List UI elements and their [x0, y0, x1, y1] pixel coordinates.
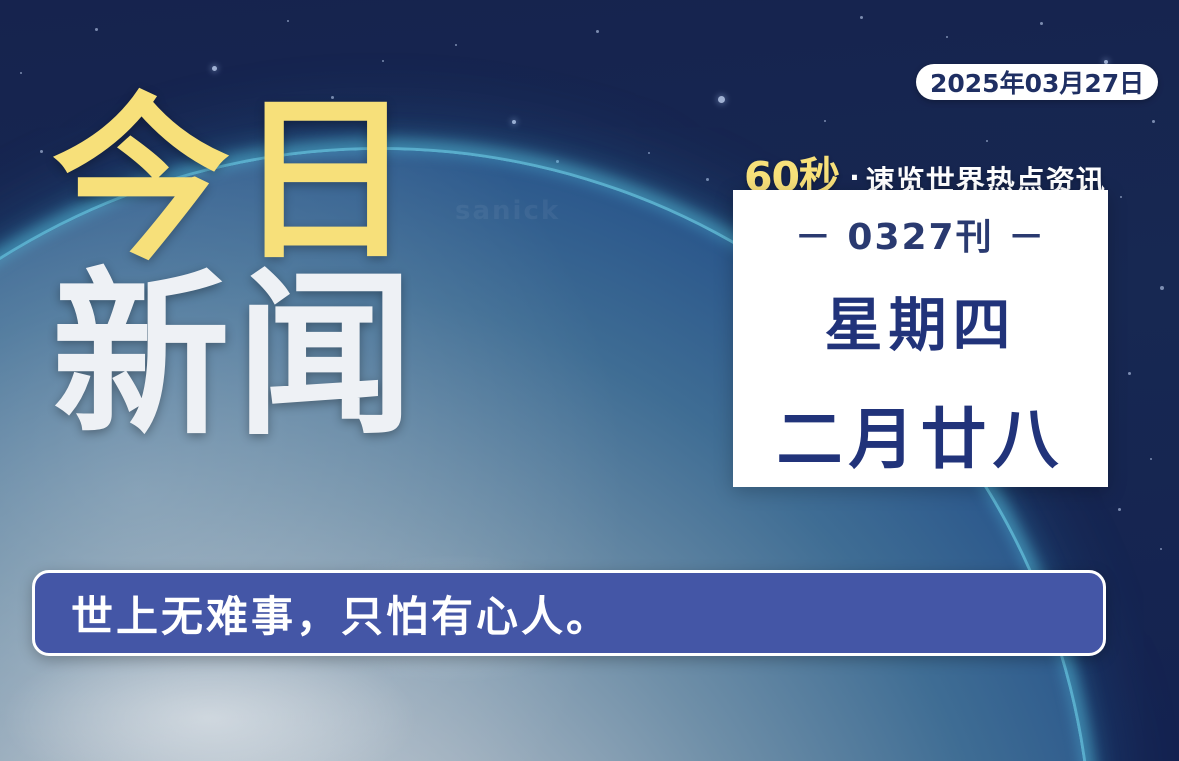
date-badge: 2025年03月27日	[916, 64, 1158, 100]
page-title-line2: 新闻	[52, 271, 482, 442]
issue-number: － 0327刊 －	[795, 208, 1046, 260]
date-info-card: － 0327刊 － 星期四 二月廿八	[733, 190, 1108, 487]
weekday-label: 星期四	[824, 278, 1016, 362]
quote-banner: 世上无难事，只怕有心人。	[32, 570, 1106, 656]
poster-canvas: sanick 今日 新闻 2025年03月27日 60秒 · 速览世界热点资讯 …	[0, 0, 1179, 761]
quote-text: 世上无难事，只怕有心人。	[35, 583, 611, 644]
lunar-date-label: 二月廿八	[777, 386, 1065, 482]
page-title: 今日 新闻	[52, 96, 482, 442]
page-title-line1: 今日	[52, 96, 482, 267]
